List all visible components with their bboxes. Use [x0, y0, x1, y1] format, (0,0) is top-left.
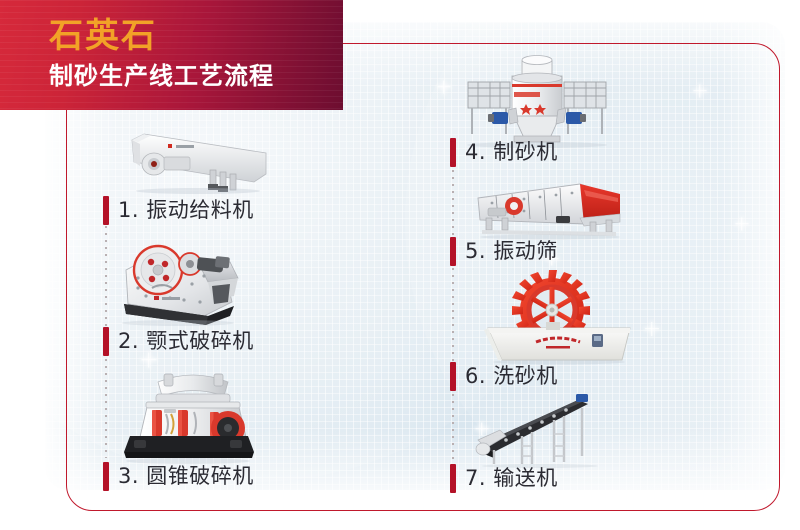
sparkle-icon: [693, 84, 706, 97]
sparkle-icon: [645, 322, 659, 336]
step-marker-bar: [103, 462, 109, 491]
jaw-crusher-icon: [112, 226, 277, 326]
belt-conveyor-icon: [470, 390, 630, 468]
flow-step-3-label: 3. 圆锥破碎机: [118, 462, 254, 491]
flow-step-2-label: 2. 颚式破碎机: [118, 327, 254, 356]
step-marker-bar: [450, 464, 456, 493]
flow-connector-right: [452, 170, 454, 470]
sand-making-machine-icon: [452, 52, 620, 148]
flow-step-4[interactable]: 4. 制砂机: [450, 138, 558, 167]
cone-crusher-icon: [118, 356, 268, 464]
flow-step-1-label: 1. 振动给料机: [118, 196, 254, 225]
flow-step-5[interactable]: 5. 振动筛: [450, 237, 558, 266]
vibrating-screen-icon: [468, 176, 638, 240]
step-marker-bar: [103, 196, 109, 225]
infographic-stage: 1. 振动给料机: [0, 0, 800, 530]
sand-washer-icon: [484, 272, 634, 364]
sparkle-icon: [735, 217, 748, 230]
flow-step-2[interactable]: 2. 颚式破碎机: [103, 327, 254, 356]
sparkle-icon: [437, 80, 450, 93]
banner-subtitle: 制砂生产线工艺流程: [49, 61, 274, 91]
flow-step-6-label: 6. 洗砂机: [465, 362, 558, 391]
flow-step-1[interactable]: 1. 振动给料机: [103, 196, 254, 225]
banner-title: 石英石: [49, 16, 157, 56]
flow-step-3[interactable]: 3. 圆锥破碎机: [103, 462, 254, 491]
vibrating-feeder-icon: [106, 112, 286, 194]
step-marker-bar: [450, 362, 456, 391]
flow-step-6[interactable]: 6. 洗砂机: [450, 362, 558, 391]
step-marker-bar: [450, 138, 456, 167]
flow-step-7-label: 7. 输送机: [465, 464, 558, 493]
flow-step-5-label: 5. 振动筛: [465, 237, 558, 266]
step-marker-bar: [450, 237, 456, 266]
flow-step-7[interactable]: 7. 输送机: [450, 464, 558, 493]
header-banner: 石英石 制砂生产线工艺流程: [0, 0, 343, 110]
flow-step-4-label: 4. 制砂机: [465, 138, 558, 167]
step-marker-bar: [103, 327, 109, 356]
